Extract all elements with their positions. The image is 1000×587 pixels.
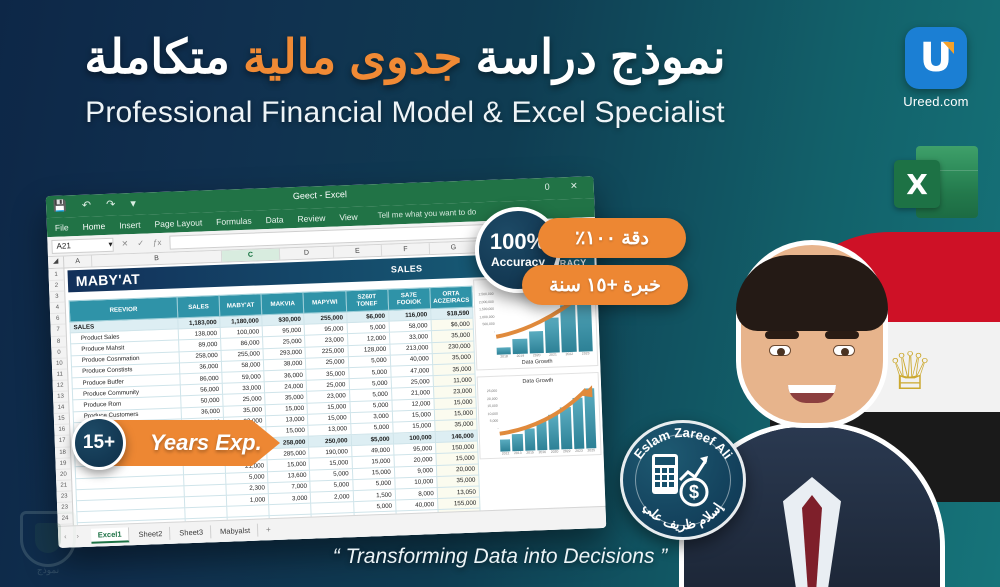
row-header[interactable]: 18: [55, 447, 70, 459]
headline-arabic-after: متكاملة: [84, 30, 243, 83]
banner-company: MABY'AT: [76, 263, 352, 289]
chart-bar: [512, 433, 523, 451]
sheet-tab-mabyalst[interactable]: Mabyalst: [213, 524, 258, 539]
name-box[interactable]: A21 ▾: [51, 237, 113, 253]
chart-bar: [524, 428, 535, 451]
chart-x-tick: 2025: [586, 448, 596, 452]
table-column-header: SA7E FOOIOK: [388, 288, 431, 311]
ribbon-tab-file[interactable]: File: [55, 222, 69, 232]
column-header-f[interactable]: F: [382, 243, 430, 256]
chart-bar: [536, 421, 547, 450]
ribbon-tab-formulas[interactable]: Formulas: [216, 215, 252, 226]
tagline: “ Transforming Data into Decisions ”: [0, 545, 1000, 569]
portrait-eye-right: [833, 345, 855, 356]
row-header[interactable]: 17: [55, 436, 70, 448]
portrait-brow-left: [765, 331, 799, 339]
column-header-c[interactable]: C: [222, 249, 280, 262]
chart-bar: [572, 398, 584, 449]
column-header-e[interactable]: E: [334, 245, 382, 258]
seal-arc-text: Eslam Zareef Ali إسلام ظريف علي: [620, 420, 746, 540]
row-header[interactable]: 14: [53, 403, 68, 415]
excel-app-icon: X: [894, 146, 978, 222]
chart-x-tick: 2019: [513, 354, 527, 359]
portrait-eye-left: [769, 345, 791, 356]
chart-y-tick: 25,000: [480, 388, 497, 396]
formula-bar-icons[interactable]: ✕ ✓ ƒx: [121, 238, 161, 248]
table-column-header: MAPYWI: [303, 291, 346, 314]
chart-data-growth-y-ticks: 25,00020,00015,00010,0005,000-: [480, 388, 499, 434]
row-header[interactable]: 6: [50, 314, 65, 326]
table-column-header: MABY'AT: [219, 294, 262, 317]
excel-grid[interactable]: 1234678010111213141516171819202123232425…: [48, 249, 606, 548]
sheet-tab-sheet3[interactable]: Sheet3: [172, 525, 211, 539]
row-header[interactable]: 10: [52, 358, 67, 370]
column-header-a[interactable]: A: [64, 256, 92, 268]
tell-me-search[interactable]: Tell me what you want to do: [377, 207, 476, 220]
ribbon-tab-home[interactable]: Home: [82, 221, 105, 232]
experience-badge: Years Exp. 15+: [72, 420, 280, 466]
headline-arabic-before: نموذج دراسة: [462, 30, 725, 83]
chart-y-tick: -: [478, 329, 495, 337]
ureed-logo[interactable]: U Ureed.com: [890, 27, 982, 109]
headline-arabic: نموذج دراسة جدوى مالية متكاملة: [0, 28, 810, 87]
row-header[interactable]: 15: [54, 414, 69, 426]
ureed-logo-tile: U: [905, 27, 967, 89]
headline-english: Professional Financial Model & Excel Spe…: [0, 96, 810, 130]
table-column-header: SZ60T TONEF: [345, 289, 388, 312]
experience-badge-number: 15+: [72, 416, 126, 470]
portrait-brow-right: [825, 331, 859, 339]
experience-badge-label: Years Exp.: [104, 420, 280, 466]
chart-revenue-y-ticks: 2,500,0002,000,0001,500,0001,000,000500,…: [477, 291, 496, 337]
column-header-g[interactable]: G: [430, 241, 478, 254]
watermark-shield-icon: [20, 511, 76, 567]
excel-app-icon-badge: X: [894, 160, 940, 208]
chart-bar: [545, 318, 561, 353]
chart-x-tick: 2012: [500, 451, 510, 455]
seal-name-english: Eslam Zareef Ali: [631, 425, 736, 462]
chart-x-tick: 2021: [546, 352, 560, 357]
chart-bar: [529, 331, 544, 354]
banner-sales: SALES: [351, 262, 461, 276]
function-icon[interactable]: ƒx: [153, 238, 162, 247]
window-controls[interactable]: 0 ✕: [544, 180, 586, 193]
chart-x-tick: 2022: [562, 449, 572, 453]
table-column-header: SALES: [177, 295, 220, 318]
pill-experience-arabic: خبرة +١٥ سنة: [522, 265, 688, 305]
row-header[interactable]: 4: [50, 303, 65, 315]
seal-name-arabic: إسلام ظريف علي: [640, 500, 727, 533]
row-header[interactable]: 19: [55, 458, 70, 470]
ureed-logo-name: Ureed.com: [890, 94, 982, 109]
row-header[interactable]: 11: [52, 369, 67, 381]
chart-bar: [513, 339, 528, 354]
row-header[interactable]: 1: [48, 270, 63, 282]
chart-bar: [560, 305, 576, 353]
row-header[interactable]: 13: [53, 392, 68, 404]
cancel-icon[interactable]: ✕: [121, 239, 128, 248]
name-box-value: A21: [56, 241, 71, 251]
select-all-corner[interactable]: ◢: [48, 257, 64, 269]
ribbon-tab-insert[interactable]: Insert: [119, 219, 141, 230]
chart-bar: [560, 407, 572, 450]
column-header-d[interactable]: D: [280, 247, 334, 260]
portrait-face: [741, 245, 883, 423]
ribbon-tab-data[interactable]: Data: [265, 214, 283, 225]
financial-table[interactable]: REEVIORSALESMABY'ATMAKVIAMAPYWISZ60T TON…: [69, 286, 482, 548]
row-header[interactable]: 16: [54, 425, 69, 437]
chart-x-tick: 2023: [574, 449, 584, 453]
chart-x-tick: 2020: [529, 353, 543, 358]
row-header[interactable]: 20: [56, 469, 71, 481]
personal-seal: $ Eslam Zareef Ali إسلام ظريف علي: [602, 420, 770, 540]
chart-x-tick: 2022: [562, 352, 576, 357]
watermark-shield-inner: [35, 523, 61, 553]
row-header[interactable]: 2: [49, 281, 64, 293]
chart-x-tick: 2013: [513, 451, 523, 455]
row-header[interactable]: 0: [51, 347, 66, 359]
ribbon-tab-page-layout[interactable]: Page Layout: [154, 217, 202, 229]
chart-x-tick: 2023: [578, 351, 592, 356]
table-column-header: MAKVIA: [261, 292, 304, 315]
row-header[interactable]: 8: [51, 336, 66, 348]
chart-y-tick: 500,000: [478, 321, 495, 329]
watermark-text: نموذج: [6, 565, 90, 576]
table-column-header: ORTA ACZEIRACS: [430, 286, 473, 309]
chart-x-tick: 2016: [537, 450, 547, 454]
row-header[interactable]: 12: [53, 380, 68, 392]
pill-accuracy-arabic: دقة ١٠٠٪: [538, 218, 686, 258]
confirm-icon[interactable]: ✓: [137, 239, 144, 248]
portrait-hair: [736, 255, 888, 331]
chart-y-tick: 2,500,000: [477, 291, 494, 299]
chart-bar: [584, 389, 596, 449]
headline-arabic-highlight: جدوى مالية: [243, 30, 462, 83]
add-sheet-button[interactable]: +: [260, 525, 277, 535]
chevron-down-icon[interactable]: ▾: [108, 240, 112, 249]
chart-bar: [548, 415, 560, 450]
sheet-tab-excel1[interactable]: Excel1: [91, 527, 130, 543]
sheet-tab-sheet2[interactable]: Sheet2: [131, 527, 170, 541]
chart-y-tick: 5,000: [481, 418, 498, 426]
chart-x-tick: 2020: [549, 449, 559, 453]
row-header[interactable]: 23: [57, 491, 72, 503]
chart-data-growth: Data Growth 25,00020,00015,00010,0005,00…: [477, 372, 602, 459]
chart-bar: [497, 347, 512, 355]
excel-app-icon-letter: X: [906, 168, 928, 201]
ribbon-tab-view[interactable]: View: [339, 211, 358, 222]
headline-block: نموذج دراسة جدوى مالية متكاملة Professio…: [0, 28, 810, 130]
row-header[interactable]: 3: [49, 292, 64, 304]
chart-y-tick: -: [481, 426, 498, 434]
watermark: نموذج: [6, 511, 90, 583]
ribbon-tab-review[interactable]: Review: [297, 212, 325, 223]
chart-x-tick: 2015: [525, 450, 535, 454]
portrait-mouth: [788, 385, 836, 403]
chart-data-growth-plot: 25,00020,00015,00010,0005,000-: [480, 382, 598, 452]
chart-bar: [500, 439, 511, 452]
row-header[interactable]: 21: [56, 480, 71, 492]
row-header[interactable]: 7: [50, 325, 65, 337]
chart-x-tick: 2018: [497, 354, 511, 359]
